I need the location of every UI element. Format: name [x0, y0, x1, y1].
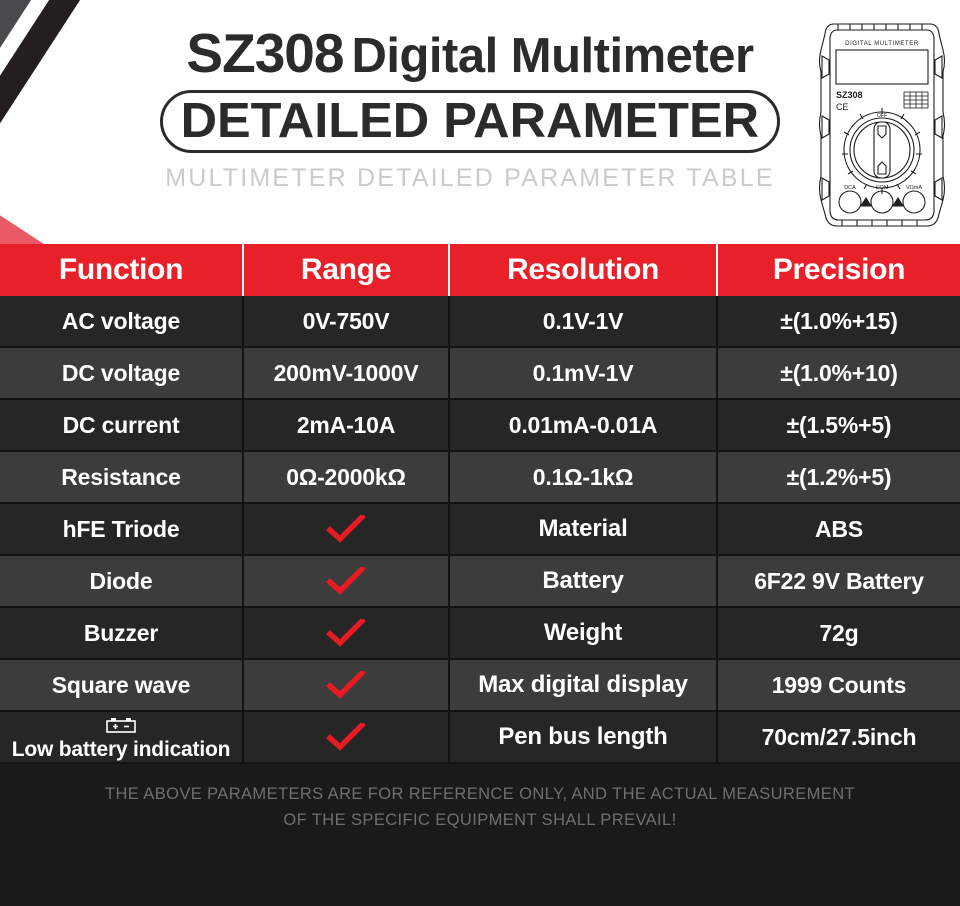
cell-function: Square wave: [0, 660, 244, 712]
cell-range-check: [244, 660, 450, 712]
table-row: Square wave Max digital display 1999 Cou…: [0, 660, 960, 712]
cell-resolution: Material: [450, 504, 718, 556]
cell-precision: 6F22 9V Battery: [718, 556, 960, 608]
disclaimer-line-2: OF THE SPECIFIC EQUIPMENT SHALL PREVAIL!: [0, 808, 960, 834]
table-row: Resistance 0Ω-2000kΩ 0.1Ω-1kΩ ±(1.2%+5): [0, 452, 960, 504]
column-header-function: Function: [0, 244, 244, 296]
cell-precision: 1999 Counts: [718, 660, 960, 712]
disclaimer-line-1: THE ABOVE PARAMETERS ARE FOR REFERENCE O…: [0, 782, 960, 808]
cell-function: Resistance: [0, 452, 244, 504]
cell-function-label: Low battery indication: [12, 739, 230, 761]
device-ce-mark: CE: [836, 102, 849, 112]
cell-precision: ±(1.0%+15): [718, 296, 960, 348]
cell-resolution: 0.1Ω-1kΩ: [450, 452, 718, 504]
jack-label-dca: DCA: [844, 185, 856, 191]
table-row: hFE Triode Material ABS: [0, 504, 960, 556]
cell-function: Buzzer: [0, 608, 244, 660]
page-title: SZ308Digital Multimeter: [150, 26, 790, 81]
cell-precision: ±(1.0%+10): [718, 348, 960, 400]
cell-range-check: [244, 556, 450, 608]
cell-function: AC voltage: [0, 296, 244, 348]
cell-range: 2mA-10A: [244, 400, 450, 452]
detailed-parameter-badge: DETAILED PARAMETER: [160, 90, 780, 153]
cell-precision: ±(1.5%+5): [718, 400, 960, 452]
cell-resolution: Pen bus length: [450, 712, 718, 764]
cell-function: DC current: [0, 400, 244, 452]
dial-off-label: OFF: [877, 113, 887, 119]
page-subtitle: MULTIMETER DETAILED PARAMETER TABLE: [150, 164, 790, 193]
cell-precision: ABS: [718, 504, 960, 556]
hfe-socket-icon: [904, 92, 928, 108]
header-banner: SZ308Digital Multimeter DETAILED PARAMET…: [0, 0, 960, 244]
decorative-stripe-black-2: [0, 0, 175, 244]
column-header-range: Range: [244, 244, 450, 296]
cell-range: 200mV-1000V: [244, 348, 450, 400]
table-row: Buzzer Weight 72g: [0, 608, 960, 660]
battery-icon: [106, 713, 136, 737]
cell-function: hFE Triode: [0, 504, 244, 556]
cell-resolution: 0.1mV-1V: [450, 348, 718, 400]
checkmark-icon: [326, 671, 366, 699]
multimeter-illustration: DIGITAL MULTIMETER SZ308 CE OFF DCA COM …: [812, 16, 952, 234]
cell-resolution: Weight: [450, 608, 718, 660]
cell-precision: 72g: [718, 608, 960, 660]
cell-precision: ±(1.2%+5): [718, 452, 960, 504]
title-block: SZ308Digital Multimeter DETAILED PARAMET…: [150, 26, 790, 193]
table-header-row: Function Range Resolution Precision: [0, 244, 960, 296]
decorative-stripe-pink: [0, 118, 60, 244]
checkmark-icon: [326, 619, 366, 647]
device-brand-text: DIGITAL MULTIMETER: [845, 41, 919, 47]
column-header-precision: Precision: [718, 244, 960, 296]
cell-range-check: [244, 504, 450, 556]
cell-range: 0Ω-2000kΩ: [244, 452, 450, 504]
table-row: DC voltage 200mV-1000V 0.1mV-1V ±(1.0%+1…: [0, 348, 960, 400]
table-row: Diode Battery 6F22 9V Battery: [0, 556, 960, 608]
cell-function: Low battery indication: [0, 712, 244, 764]
jack-label-vohm: VΩmA: [906, 185, 922, 191]
cell-resolution: 0.1V-1V: [450, 296, 718, 348]
multimeter-svg: DIGITAL MULTIMETER SZ308 CE OFF DCA COM …: [812, 16, 952, 234]
cell-resolution: 0.01mA-0.01A: [450, 400, 718, 452]
cell-precision: 70cm/27.5inch: [718, 712, 960, 764]
checkmark-icon: [326, 723, 366, 751]
checkmark-icon: [326, 567, 366, 595]
cell-range: 0V-750V: [244, 296, 450, 348]
cell-range-check: [244, 608, 450, 660]
detailed-parameter-label: DETAILED PARAMETER: [181, 97, 760, 146]
device-model-text: SZ308: [836, 90, 863, 100]
footer-disclaimer: THE ABOVE PARAMETERS ARE FOR REFERENCE O…: [0, 770, 960, 906]
cell-function: Diode: [0, 556, 244, 608]
cell-resolution: Battery: [450, 556, 718, 608]
parameter-table: Function Range Resolution Precision AC v…: [0, 244, 960, 764]
cell-function: DC voltage: [0, 348, 244, 400]
cell-range-check: [244, 712, 450, 764]
cell-resolution: Max digital display: [450, 660, 718, 712]
product-model: SZ308: [186, 22, 343, 84]
table-row: AC voltage 0V-750V 0.1V-1V ±(1.0%+15): [0, 296, 960, 348]
product-type: Digital Multimeter: [351, 29, 753, 83]
parameter-table-page: SZ308Digital Multimeter DETAILED PARAMET…: [0, 0, 960, 906]
checkmark-icon: [326, 515, 366, 543]
table-row: Low battery indication Pen bus length 70…: [0, 712, 960, 764]
column-header-resolution: Resolution: [450, 244, 718, 296]
table-row: DC current 2mA-10A 0.01mA-0.01A ±(1.5%+5…: [0, 400, 960, 452]
jack-label-com: COM: [876, 185, 889, 191]
decorative-stripe-white-3: [0, 0, 150, 244]
